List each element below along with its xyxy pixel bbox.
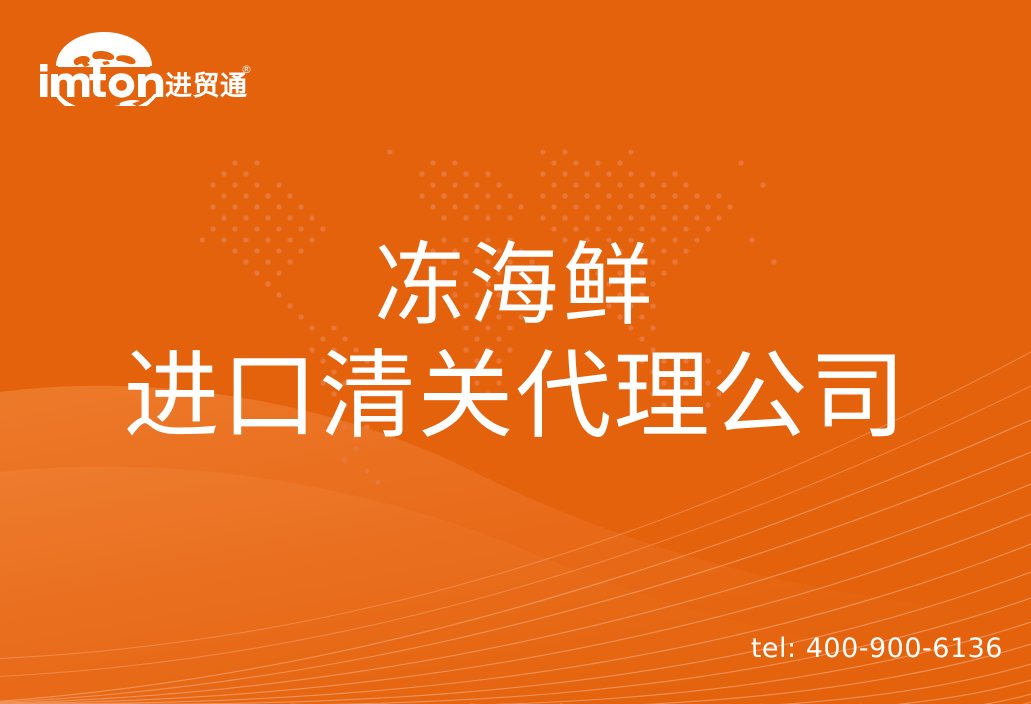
headline-line-1: 冻海鲜 — [0, 232, 1031, 340]
phone-number[interactable]: tel: 400-900-6136 — [751, 633, 1003, 664]
poster-canvas: 进贸通 ® 冻海鲜 进口清关代理公司 tel: 400-900-6136 — [0, 0, 1031, 704]
headline-block: 冻海鲜 进口清关代理公司 — [0, 232, 1031, 452]
company-logo[interactable]: 进贸通 ® — [38, 26, 253, 106]
trademark-icon: ® — [241, 63, 252, 76]
headline-line-2: 进口清关代理公司 — [0, 340, 1031, 452]
logo-chinese-name: 进贸通 — [165, 71, 248, 102]
logo-wordmark — [40, 64, 163, 98]
globe-arc-icon — [56, 32, 152, 67]
